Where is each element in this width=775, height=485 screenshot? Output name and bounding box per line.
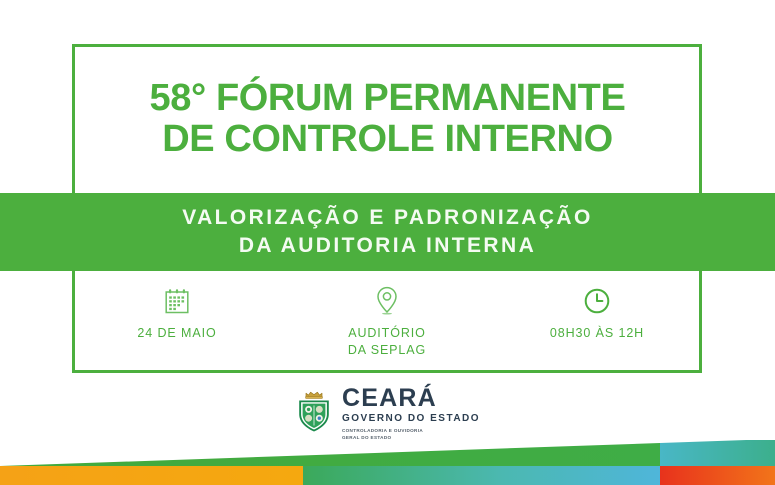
subtitle-line-1: VALORIZAÇÃO E PADRONIZAÇÃO (182, 204, 592, 232)
logo-agency-line-1: CONTROLADORIA E OUVIDORIA (342, 428, 423, 435)
event-location-line-2: DA SEPLAG (348, 342, 426, 359)
logo-government-line: GOVERNO DO ESTADO (342, 414, 480, 424)
clock-icon (584, 286, 610, 316)
title-line-1: 58° FÓRUM PERMANENTE (0, 78, 775, 119)
event-date-item: 24 DE MAIO (102, 286, 252, 342)
location-pin-icon (375, 286, 399, 316)
government-logo: CEARÁ GOVERNO DO ESTADO CONTROLADORIA E … (0, 386, 775, 442)
subtitle-line-2: DA AUDITORIA INTERNA (239, 232, 536, 260)
title-line-2: DE CONTROLE INTERNO (0, 119, 775, 160)
page-title: 58° FÓRUM PERMANENTE DE CONTROLE INTERNO (0, 78, 775, 160)
event-location-line-1: AUDITÓRIO (348, 325, 426, 342)
event-date-line-1: 24 DE MAIO (137, 325, 216, 342)
event-time-line-1: 08H30 ÀS 12H (550, 325, 644, 342)
calendar-icon (165, 286, 189, 316)
subtitle-banner: VALORIZAÇÃO E PADRONIZAÇÃO DA AUDITORIA … (0, 193, 775, 271)
event-poster: 58° FÓRUM PERMANENTE DE CONTROLE INTERNO… (0, 0, 775, 485)
event-time-item: 08H30 ÀS 12H (522, 286, 672, 342)
event-location-item: AUDITÓRIO DA SEPLAG (312, 286, 462, 359)
ceara-coat-of-arms-icon (295, 389, 333, 438)
logo-wordmark: CEARÁ (342, 386, 437, 411)
event-details-row: 24 DE MAIO AUDITÓRIO DA SEPLAG 08H (72, 286, 702, 359)
decorative-stripes (0, 440, 775, 485)
